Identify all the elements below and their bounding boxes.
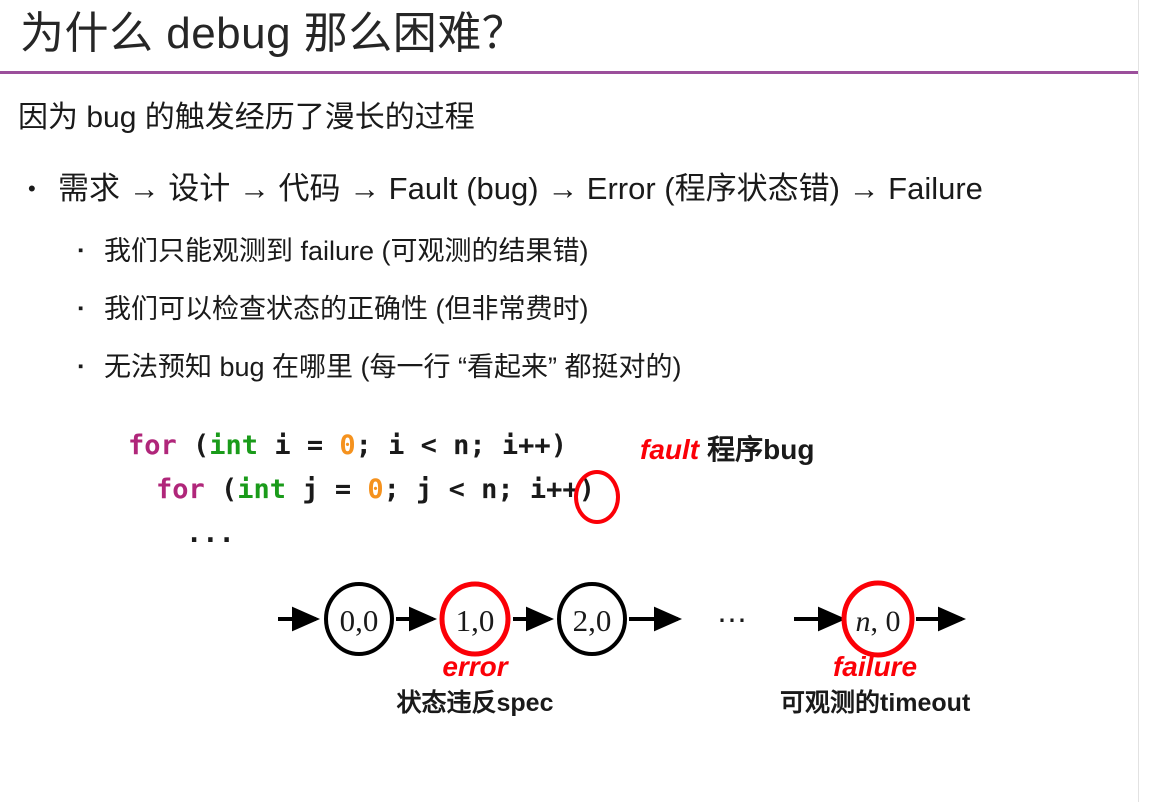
fault-label: fault: [640, 434, 699, 465]
svg-text:1,0: 1,0: [456, 603, 495, 638]
code-punct: (: [177, 430, 210, 461]
code-type-int: int: [237, 474, 286, 505]
bullet-level1: •需求 → 设计 → 代码 → Fault (bug) → Error (程序状…: [28, 168, 983, 210]
sub-bullet-marker-square: ▪: [78, 232, 104, 270]
failure-label: failure: [780, 650, 970, 684]
sub-bullet-1-label: 我们只能观测到 failure (可观测的结果错): [104, 236, 589, 266]
page-title: 为什么 debug 那么困难？: [20, 6, 526, 62]
fault-annotation: fault程序bug: [640, 428, 814, 468]
code-expr: j =: [286, 474, 367, 505]
sub-bullet-2-label: 我们可以检查状态的正确性 (但非常费时): [104, 294, 588, 324]
svg-text:2,0: 2,0: [573, 603, 612, 638]
code-line-3-ellipsis: ...: [186, 512, 595, 556]
title-divider: [0, 71, 1138, 74]
code-line-2: for (int j = 0; j < n; i++): [156, 468, 595, 512]
diagram-label-failure: failure 可观测的timeout: [780, 650, 970, 722]
code-number-zero: 0: [339, 430, 355, 461]
sub-bullet-marker-square: ▪: [78, 348, 104, 386]
code-block: for (int i = 0; i < n; i++)for (int j = …: [128, 424, 595, 556]
sub-bullet-3-label: 无法预知 bug 在哪里 (每一行 “看起来” 都挺对的): [104, 352, 682, 382]
code-keyword-for: for: [156, 474, 205, 505]
fault-label-cn: 程序bug: [707, 434, 814, 465]
sub-bullet-marker-square: ▪: [78, 290, 104, 328]
bullet-marker-dot: •: [28, 168, 58, 210]
code-keyword-for: for: [128, 430, 177, 461]
svg-text:0,0: 0,0: [340, 603, 379, 638]
svg-text:⋯: ⋯: [717, 604, 747, 637]
bug-highlight-circle-icon: [574, 470, 620, 524]
sub-bullet-2: ▪我们可以检查状态的正确性 (但非常费时): [78, 290, 588, 328]
error-label-cn: 状态违反spec: [385, 684, 565, 722]
slide-right-border: [1138, 0, 1139, 802]
svg-text:n, 0: n, 0: [856, 605, 901, 638]
code-type-int: int: [209, 430, 258, 461]
code-number-zero: 0: [367, 474, 383, 505]
code-line-1: for (int i = 0; i < n; i++): [128, 424, 595, 468]
code-punct: (: [205, 474, 238, 505]
code-expr-tail: ; i < n; i++): [356, 430, 567, 461]
slide-canvas: 为什么 debug 那么困难？ 因为 bug 的触发经历了漫长的过程 •需求 →…: [0, 0, 1154, 802]
sub-bullet-1: ▪我们只能观测到 failure (可观测的结果错): [78, 232, 589, 270]
code-expr: i =: [258, 430, 339, 461]
sub-bullet-3: ▪无法预知 bug 在哪里 (每一行 “看起来” 都挺对的): [78, 348, 682, 386]
failure-label-cn: 可观测的timeout: [780, 684, 970, 722]
error-label: error: [385, 650, 565, 684]
lead-text: 因为 bug 的触发经历了漫长的过程: [18, 98, 475, 138]
diagram-label-error: error 状态违反spec: [385, 650, 565, 722]
bullet-level1-label: 需求 → 设计 → 代码 → Fault (bug) → Error (程序状态…: [58, 171, 983, 206]
code-expr-tail: ; j < n; i++): [384, 474, 595, 505]
